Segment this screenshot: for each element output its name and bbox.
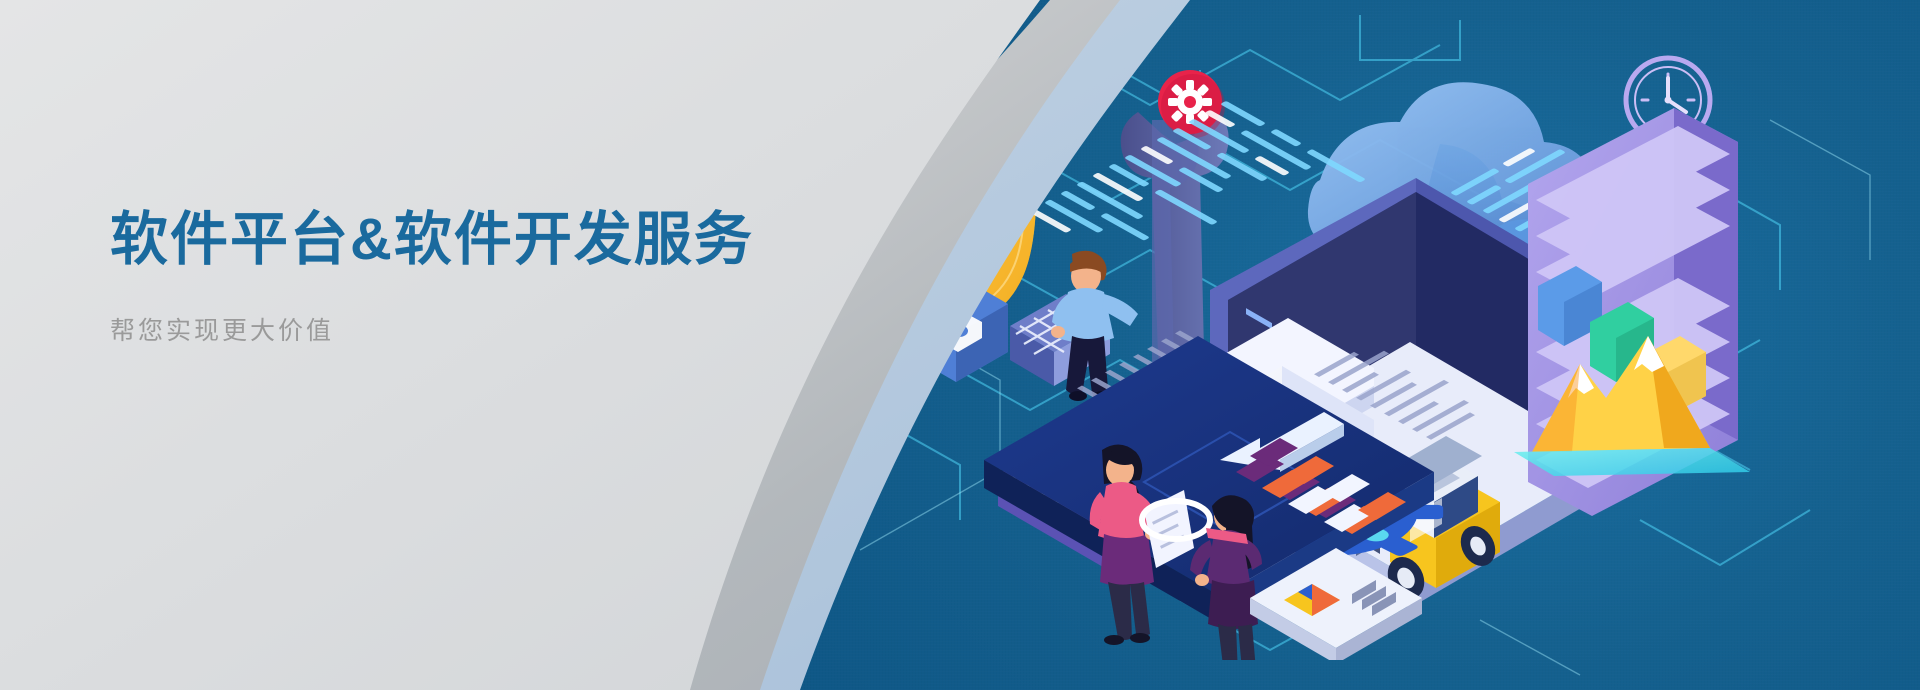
text-block: 软件平台&软件开发服务 帮您实现更大价值 bbox=[110, 206, 890, 347]
page-subtitle: 帮您实现更大价值 bbox=[110, 311, 890, 347]
hero-banner: 软件平台&软件开发服务 帮您实现更大价值 bbox=[0, 0, 1920, 690]
page-title: 软件平台&软件开发服务 bbox=[110, 206, 890, 273]
